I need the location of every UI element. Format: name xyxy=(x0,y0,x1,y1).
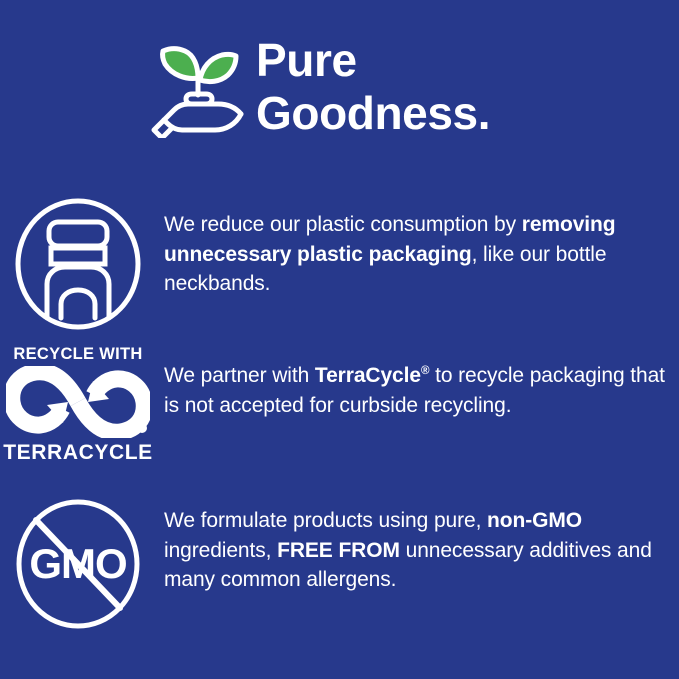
brand-lockup: Pure Goodness. xyxy=(148,28,648,158)
bottle-neckband-icon xyxy=(0,196,150,332)
feature-row-terracycle: RECYCLE WITH TERRACYCL xyxy=(0,345,679,464)
terracycle-logo-bottom-label: TERRACYCLE xyxy=(3,441,153,464)
no-gmo-icon-label: GMO xyxy=(29,540,126,587)
terracycle-logo: RECYCLE WITH TERRACYCL xyxy=(0,345,150,464)
no-gmo-icon: GMO xyxy=(0,496,150,632)
feature-text-gmo: We formulate products using pure, non-GM… xyxy=(150,496,679,595)
pure-goodness-poster: Pure Goodness. We reduce our plastic con… xyxy=(0,0,679,679)
terracycle-logo-top-label: RECYCLE WITH xyxy=(13,345,142,363)
feature-text-plastic: We reduce our plastic consumption by rem… xyxy=(150,196,679,299)
feature-row-gmo: GMO We formulate products using pure, no… xyxy=(0,496,679,632)
infinity-recycle-arrows-icon xyxy=(6,366,150,438)
hand-holding-sprout-icon xyxy=(148,34,252,138)
feature-text-terracycle: We partner with TerraCycle® to recycle p… xyxy=(150,345,679,420)
page-title: Pure Goodness. xyxy=(256,28,490,140)
feature-row-plastic: We reduce our plastic consumption by rem… xyxy=(0,196,679,332)
